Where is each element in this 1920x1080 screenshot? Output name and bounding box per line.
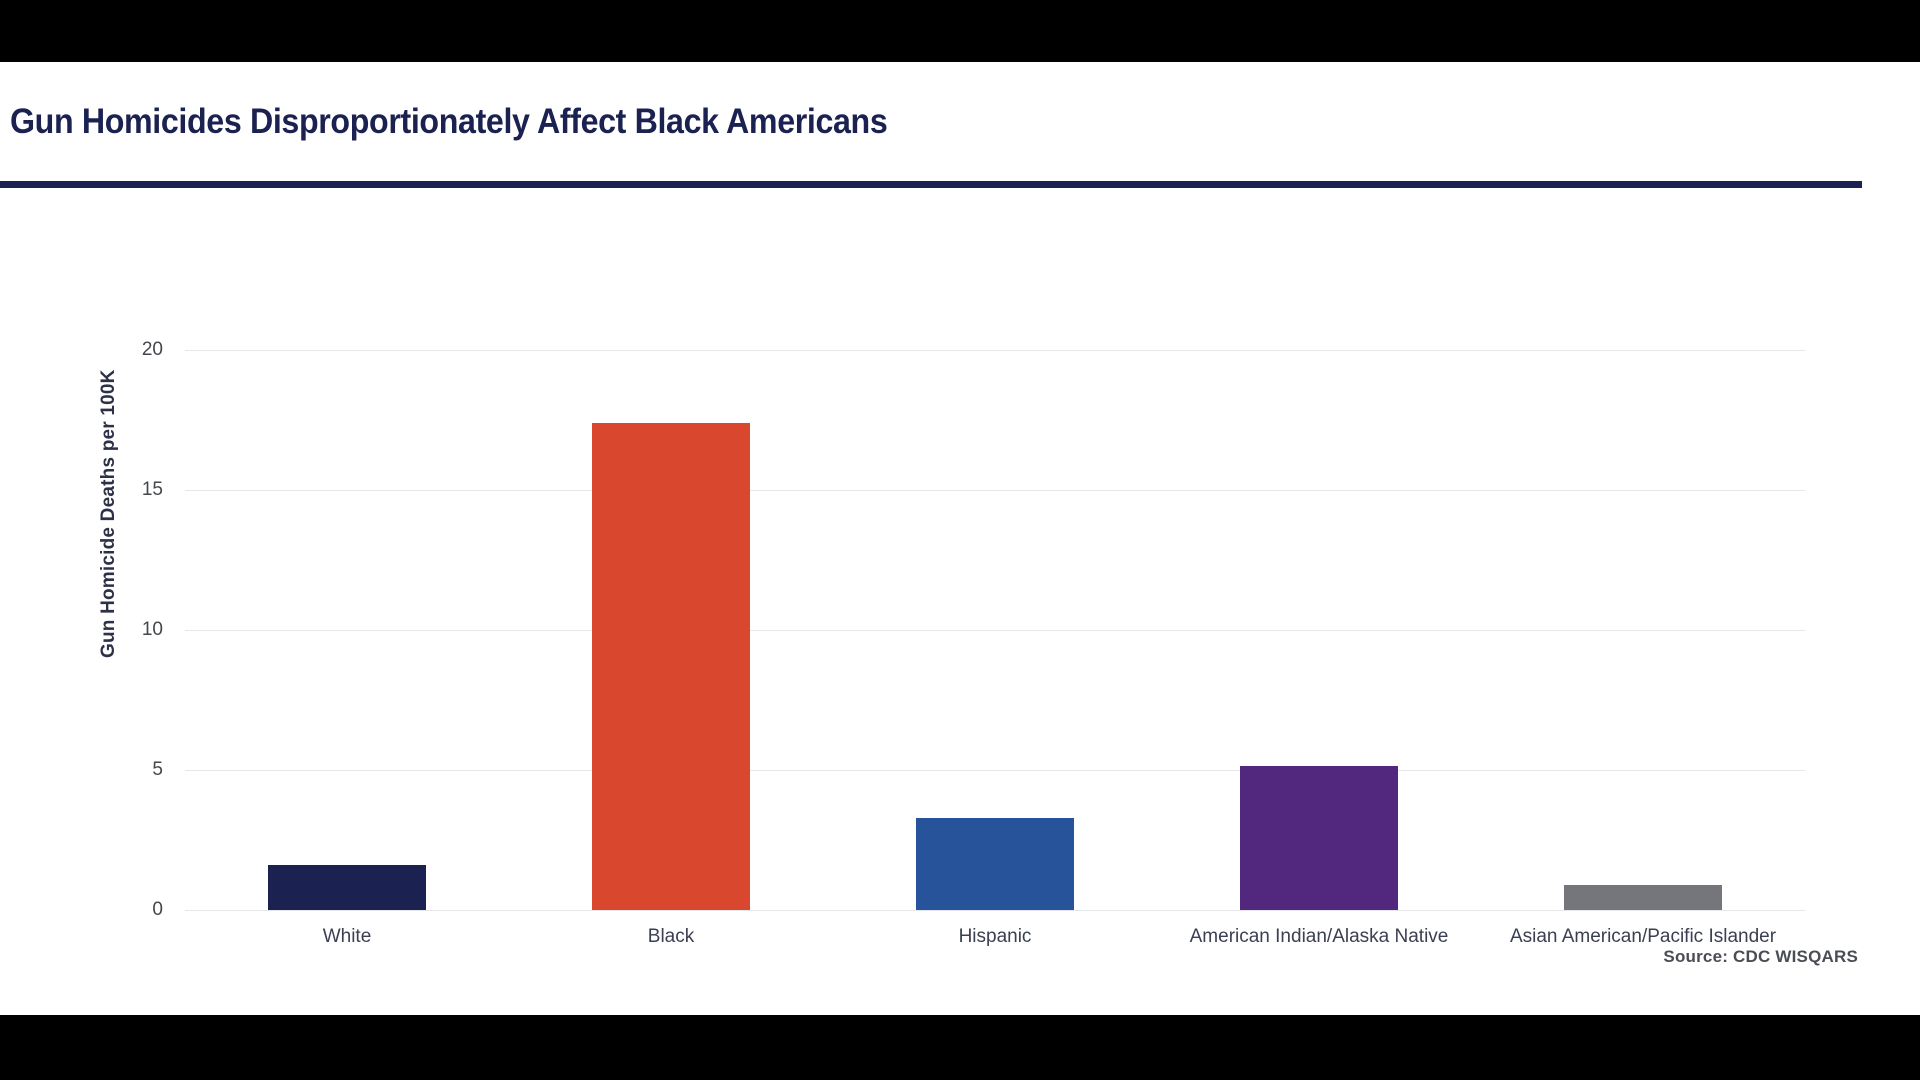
y-axis-tick-label: 5 (152, 759, 163, 781)
page-title: Gun Homicides Disproportionately Affect … (10, 102, 887, 142)
bar-group[interactable]: Asian American/Pacific Islander (1481, 350, 1805, 910)
plot-area: 05101520 WhiteBlackHispanicAmerican Indi… (185, 350, 1805, 910)
title-divider-rule (0, 181, 1862, 188)
slide-canvas: Gun Homicides Disproportionately Affect … (0, 62, 1920, 1015)
letterbox-bottom (0, 1015, 1920, 1080)
x-axis-tick-label: American Indian/Alaska Native (1190, 926, 1449, 948)
bar-group[interactable]: White (185, 350, 509, 910)
bar[interactable] (916, 818, 1074, 910)
y-axis-tick-label: 0 (152, 899, 163, 921)
y-axis-tick-label: 15 (142, 479, 163, 501)
x-axis-tick-label: White (323, 926, 372, 948)
y-axis-tick-label: 10 (142, 619, 163, 641)
y-axis-label: Gun Homicide Deaths per 100K (98, 369, 120, 658)
bar-group[interactable]: American Indian/Alaska Native (1157, 350, 1481, 910)
bar-group[interactable]: Hispanic (833, 350, 1157, 910)
bar[interactable] (1564, 885, 1722, 910)
x-axis-tick-label: Black (648, 926, 694, 948)
bar[interactable] (268, 865, 426, 910)
x-axis-tick-label: Asian American/Pacific Islander (1510, 926, 1776, 948)
bar-series: WhiteBlackHispanicAmerican Indian/Alaska… (185, 350, 1805, 910)
bar[interactable] (1240, 766, 1398, 910)
bar-group[interactable]: Black (509, 350, 833, 910)
gridline (185, 910, 1805, 911)
x-axis-tick-label: Hispanic (959, 926, 1032, 948)
bar-chart: Gun Homicide Deaths per 100K 05101520 Wh… (0, 188, 1920, 1015)
source-note: Source: CDC WISQARS (1663, 947, 1858, 967)
y-axis-tick-label: 20 (142, 339, 163, 361)
bar[interactable] (592, 423, 750, 910)
letterbox-top (0, 0, 1920, 62)
